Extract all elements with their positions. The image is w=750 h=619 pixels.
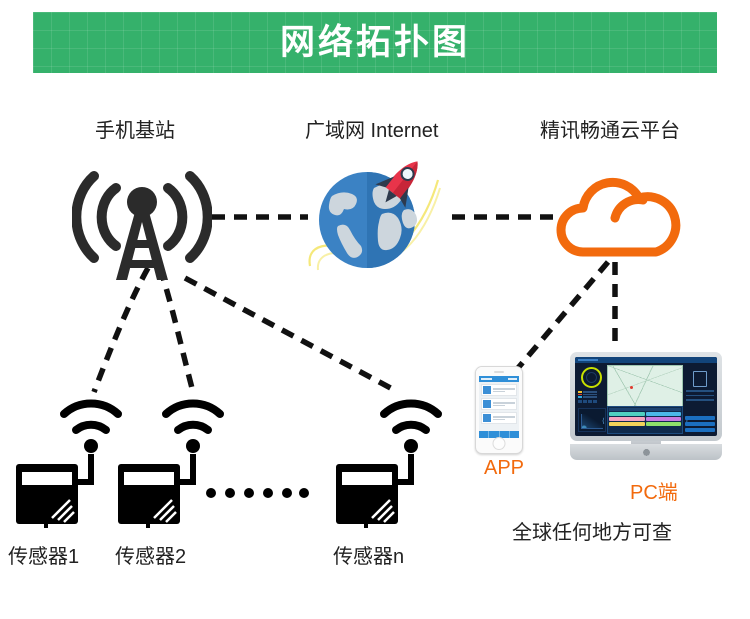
dashboard-ui: ⟨ ⟩ [575,357,717,436]
sensor-device-icon-n [328,378,443,528]
sensor-1-label: 传感器1 [8,547,79,567]
phone-item-icon [483,400,491,408]
smartphone-icon [475,366,523,454]
phone-list-item [481,384,517,396]
sensor-device-icon-1 [8,378,123,528]
carousel-prev-icon: ⟨ [602,417,605,425]
phone-home-button-icon [493,437,506,450]
sensor-device-icon-2 [110,378,225,528]
apple-logo-icon [643,448,650,456]
phone-item-icon [483,414,491,422]
phone-item-text [493,388,515,392]
monitor-screen: ⟨ ⟩ [575,357,717,436]
ellipsis-dots [205,484,310,502]
cloud-platform-label: 精讯畅通云平台 [540,121,680,141]
sensor-2-label: 传感器2 [115,547,186,567]
dashboard-left-panel [577,365,605,434]
phone-item-icon [483,386,491,394]
imac-monitor-icon: ⟨ ⟩ [570,352,722,460]
phone-speaker-icon [494,371,504,373]
monitor-bezel: ⟨ ⟩ [570,352,722,441]
link-tower-to-sensor-n [185,278,398,392]
document-icon [693,371,707,387]
dashboard-map [607,365,683,411]
phone-screen [479,376,519,438]
dashboard-gauge [581,367,602,388]
dashboard-titlebar [575,357,717,363]
phone-item-text [493,416,515,420]
dashboard-action-buttons [685,416,715,434]
cloud-icon [553,176,686,262]
phone-list-item [481,398,517,410]
link-tower-to-sensor-2 [160,268,193,392]
dashboard-kpi-row [578,400,605,403]
dashboard-cards-header [609,408,681,411]
page-title: 网络拓扑图 [280,25,470,60]
phone-earpiece [476,367,522,376]
sensor-n-label: 传感器n [333,547,404,567]
phone-list-item [481,412,517,424]
cell-tower-icon [72,162,212,284]
globe-rocket-icon [304,148,454,273]
footer-note: 全球任何地方可查 [512,523,672,543]
link-tower-to-sensor-1 [94,268,148,392]
dashboard-legend [578,391,605,398]
dashboard-card-grid [609,412,681,426]
phone-item-text [493,402,515,406]
dashboard-cards-panel: ⟨ ⟩ [607,406,683,434]
topology-diagram: 网络拓扑图 手机基站 广域网 Internet 精讯畅通云平台 [0,0,750,619]
app-label: APP [484,458,524,478]
internet-label: 广域网 Internet [305,121,438,141]
pc-label: PC端 [630,483,678,503]
map-marker-icon [630,386,633,389]
base-station-label: 手机基站 [95,121,175,141]
phone-app-titlebar [479,376,519,382]
page-header-banner: 网络拓扑图 [33,12,717,73]
monitor-chin [570,444,722,460]
